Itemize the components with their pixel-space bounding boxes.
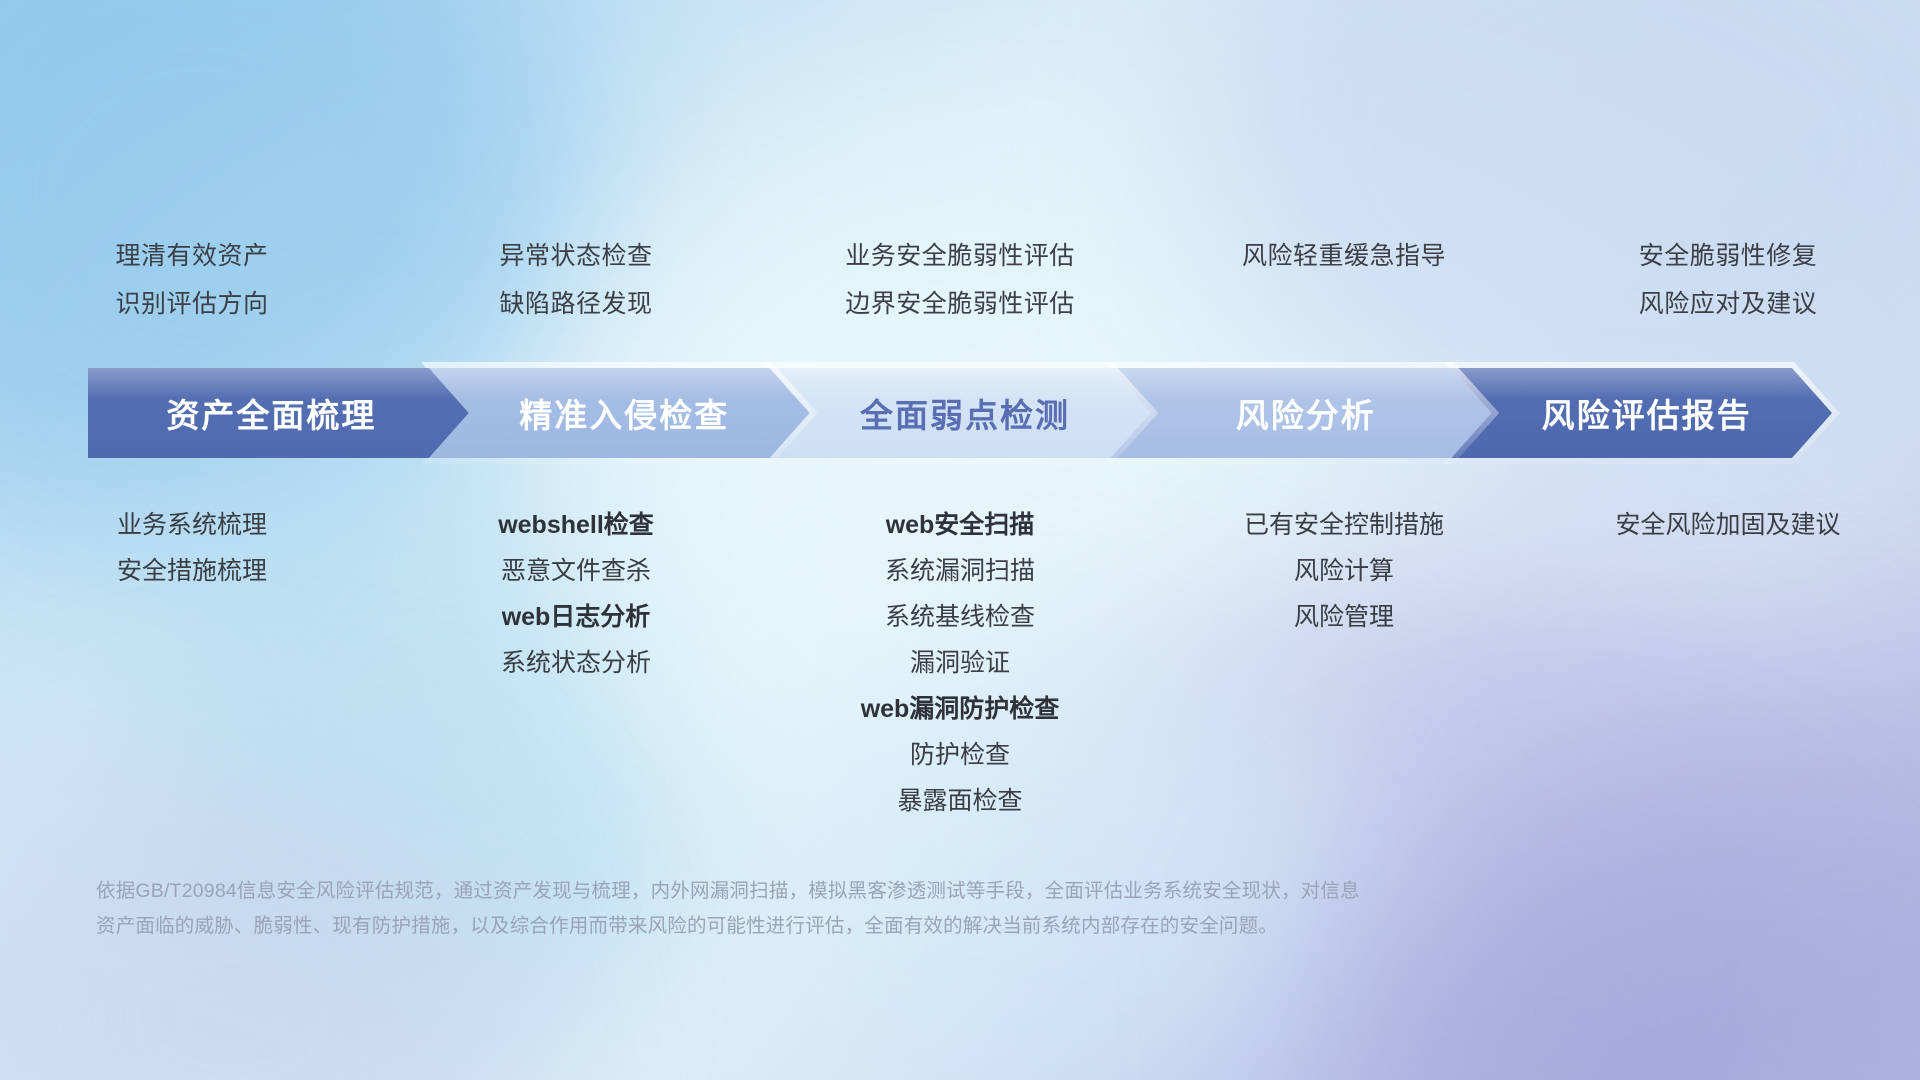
chevron-stage-2[interactable]: 精准入侵检查 (429, 368, 810, 458)
stage-items-column-2: webshell检查恶意文件查杀web日志分析系统状态分析 (384, 502, 768, 686)
stage-item: 安全风险加固及建议 (1536, 502, 1920, 548)
chevron-stage-label: 资产全面梳理 (166, 389, 376, 437)
top-notes-column-3: 业务安全脆弱性评估 边界安全脆弱性评估 (768, 232, 1152, 328)
footer-line-2: 资产面临的威胁、脆弱性、现有防护措施，以及综合作用而带来风险的可能性进行评估，全… (96, 909, 1636, 944)
top-notes-row: 理清有效资产 识别评估方向 异常状态检查 缺陷路径发现 业务安全脆弱性评估 边界… (0, 232, 1920, 328)
stage-items-row: 业务系统梳理安全措施梳理 webshell检查恶意文件查杀web日志分析系统状态… (0, 502, 1920, 824)
chevron-stage-label: 风险分析 (1236, 389, 1376, 437)
stage-item: 防护检查 (768, 732, 1152, 778)
top-note: 异常状态检查 (384, 232, 768, 280)
top-note: 业务安全脆弱性评估 (768, 232, 1152, 280)
chevron-stage-label: 风险评估报告 (1542, 389, 1752, 437)
stage-item: 暴露面检查 (768, 778, 1152, 824)
top-notes-column-2: 异常状态检查 缺陷路径发现 (384, 232, 768, 328)
top-notes-column-1: 理清有效资产 识别评估方向 (0, 232, 384, 328)
stage-item: 系统漏洞扫描 (768, 548, 1152, 594)
top-note: 识别评估方向 (0, 280, 384, 328)
footer-description: 依据GB/T20984信息安全风险评估规范，通过资产发现与梳理，内外网漏洞扫描，… (96, 874, 1636, 944)
top-note: 边界安全脆弱性评估 (768, 280, 1152, 328)
top-note: 缺陷路径发现 (384, 280, 768, 328)
stage-item: 风险计算 (1152, 548, 1536, 594)
top-note: 理清有效资产 (0, 232, 384, 280)
stage-items-column-1: 业务系统梳理安全措施梳理 (0, 502, 384, 594)
stage-item: 已有安全控制措施 (1152, 502, 1536, 548)
chevron-stage-label: 全面弱点检测 (860, 389, 1070, 437)
top-notes-column-5: 安全脆弱性修复 风险应对及建议 (1536, 232, 1920, 328)
stage-item: 安全措施梳理 (0, 548, 384, 594)
top-note: 风险轻重缓急指导 (1152, 232, 1536, 280)
stage-item: web安全扫描 (768, 502, 1152, 548)
chevron-stage-1[interactable]: 资产全面梳理 (88, 368, 469, 458)
chevron-stage-label: 精准入侵检查 (519, 389, 729, 437)
stage-item: web漏洞防护检查 (768, 686, 1152, 732)
stage-items-column-4: 已有安全控制措施风险计算风险管理 (1152, 502, 1536, 640)
stage-item: webshell检查 (384, 502, 768, 548)
footer-line-1: 依据GB/T20984信息安全风险评估规范，通过资产发现与梳理，内外网漏洞扫描，… (96, 874, 1636, 909)
stage-items-column-3: web安全扫描系统漏洞扫描系统基线检查漏洞验证web漏洞防护检查防护检查暴露面检… (768, 502, 1152, 824)
chevron-stage-4[interactable]: 风险分析 (1110, 368, 1491, 458)
chevron-stage-3[interactable]: 全面弱点检测 (770, 368, 1151, 458)
stage-item: web日志分析 (384, 594, 768, 640)
stage-item: 恶意文件查杀 (384, 548, 768, 594)
top-note: 安全脆弱性修复 (1536, 232, 1920, 280)
stage-item: 业务系统梳理 (0, 502, 384, 548)
stage-item: 漏洞验证 (768, 640, 1152, 686)
stage-item: 系统状态分析 (384, 640, 768, 686)
stage-item: 系统基线检查 (768, 594, 1152, 640)
stage-item: 风险管理 (1152, 594, 1536, 640)
top-note: 风险应对及建议 (1536, 280, 1920, 328)
chevron-stage-5[interactable]: 风险评估报告 (1451, 368, 1832, 458)
process-chevron-banner: 资产全面梳理精准入侵检查全面弱点检测风险分析风险评估报告 (88, 368, 1832, 458)
stage-items-column-5: 安全风险加固及建议 (1536, 502, 1920, 548)
top-notes-column-4: 风险轻重缓急指导 (1152, 232, 1536, 328)
